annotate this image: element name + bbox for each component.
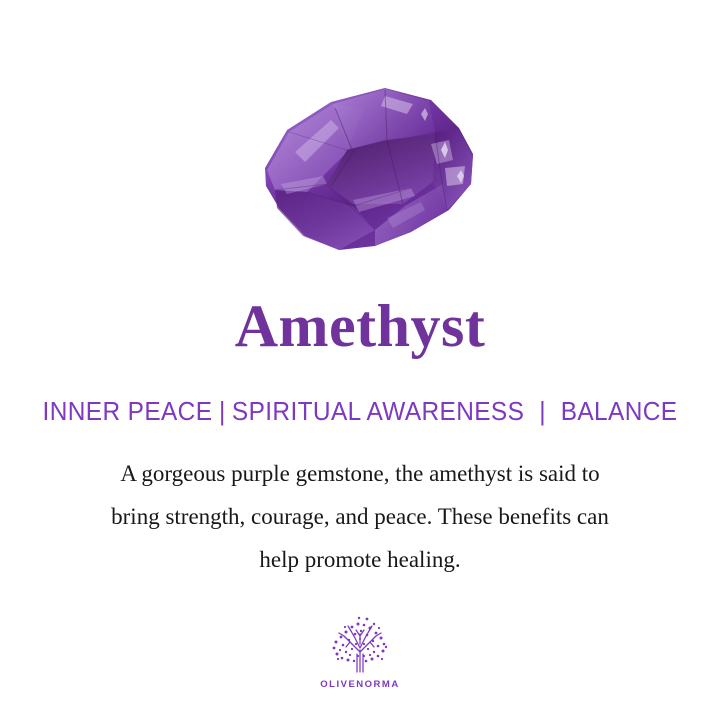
keyword-balance: BALANCE <box>561 396 678 426</box>
description-line-3: help promote healing. <box>50 538 670 581</box>
keyword-list: INNER PEACE|SPIRITUAL AWARENESS|BALANCE <box>22 397 699 426</box>
keyword-inner-peace: INNER PEACE <box>43 396 213 426</box>
keyword-separator-2: | <box>524 396 560 426</box>
amethyst-info-card: Amethyst INNER PEACE|SPIRITUAL AWARENESS… <box>0 0 720 720</box>
gemstone-image <box>0 72 720 267</box>
keyword-separator-1: | <box>212 396 232 426</box>
raw-amethyst-crystal-icon <box>235 80 485 260</box>
keyword-spiritual-awareness: SPIRITUAL AWARENESS <box>232 396 524 426</box>
description-line-2: bring strength, courage, and peace. Thes… <box>50 495 670 538</box>
description-line-1: A gorgeous purple gemstone, the amethyst… <box>50 452 670 495</box>
brand-logo: OLIVENORMA <box>0 614 720 690</box>
page-title: Amethyst <box>0 296 720 356</box>
brand-name: OLIVENORMA <box>320 679 399 690</box>
tree-icon <box>324 614 396 676</box>
description-text: A gorgeous purple gemstone, the amethyst… <box>50 452 670 581</box>
